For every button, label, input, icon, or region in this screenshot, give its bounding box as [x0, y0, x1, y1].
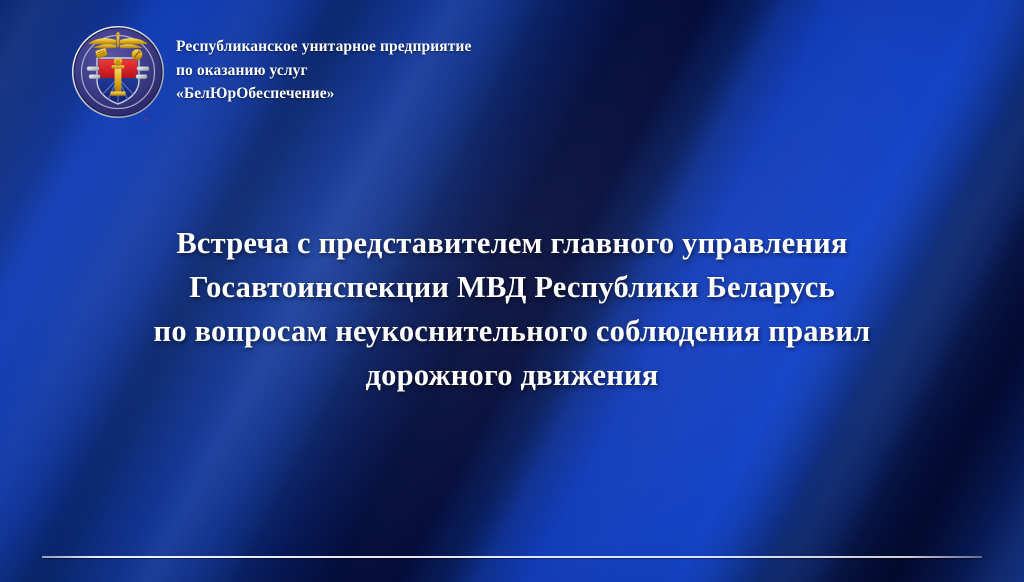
- slide-title-line-4: дорожного движения: [40, 354, 984, 398]
- slide-header: БелЮрЗабеспячэнне: [70, 24, 471, 120]
- organization-name-line-2: по оказанию услуг: [176, 59, 471, 83]
- organization-name-line-1: Республиканское унитарное предприятие: [176, 35, 471, 59]
- slide-title: Встреча с представителем главного управл…: [0, 222, 1024, 398]
- slide-title-line-2: Госавтоинспекции МВД Республики Беларусь: [40, 266, 984, 310]
- organization-name: Республиканское унитарное предприятие по…: [176, 35, 471, 106]
- organization-emblem-icon: БелЮрЗабеспячэнне: [70, 24, 166, 120]
- bottom-divider-rule: [42, 556, 982, 558]
- presentation-slide: БелЮрЗабеспячэнне: [0, 0, 1024, 582]
- slide-title-line-3: по вопросам неукоснительного соблюдения …: [40, 310, 984, 354]
- slide-title-line-1: Встреча с представителем главного управл…: [40, 222, 984, 266]
- organization-name-line-3: «БелЮрОбеспечение»: [176, 82, 471, 106]
